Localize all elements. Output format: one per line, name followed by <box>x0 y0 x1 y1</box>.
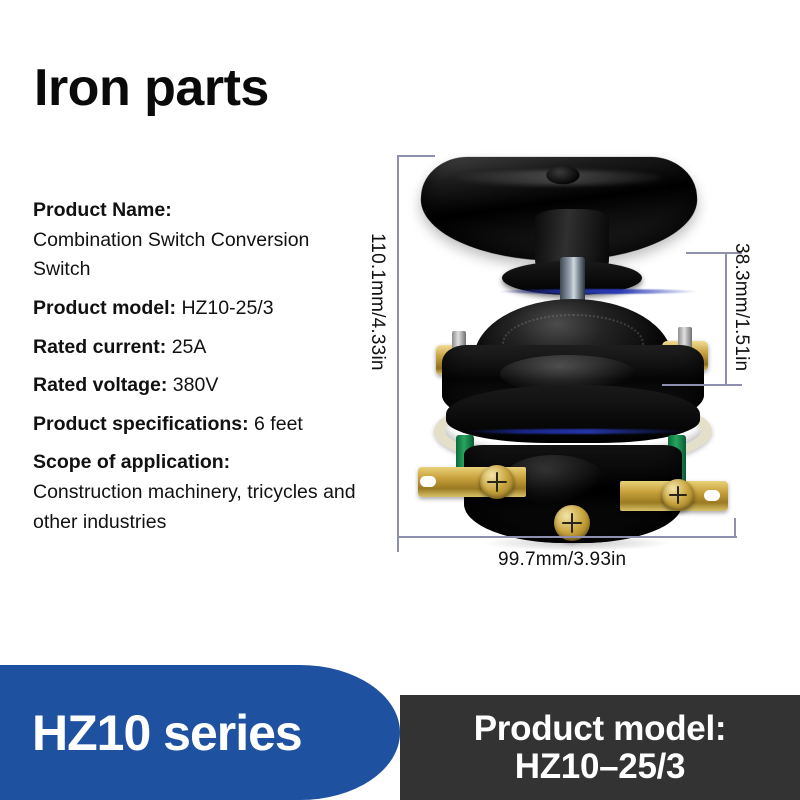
spec-value-scope-of-application: Construction machinery, tricycles and ot… <box>33 478 363 537</box>
model-banner-caption: Product model: <box>474 710 726 748</box>
page-title: Iron parts <box>34 62 269 114</box>
rotary-switch-illustration <box>412 149 732 549</box>
series-banner-panel: HZ10 series <box>0 665 400 800</box>
series-banner-label: HZ10 series <box>32 704 302 762</box>
gasket-inner-cover <box>446 385 700 443</box>
spec-label-rated-current: Rated current: <box>33 336 166 358</box>
spec-row-product-specifications: Product specifications: 6 feet <box>33 410 363 440</box>
screw-bracket-right <box>662 479 694 511</box>
dim-label-height: 110.1mm/4.33in <box>366 233 388 371</box>
dim-line-body-height <box>725 252 727 385</box>
spec-label-scope-of-application: Scope of application: <box>33 451 230 473</box>
dim-line-height <box>397 155 399 552</box>
spec-value-product-name: Combination Switch Conversion Switch <box>33 226 363 285</box>
dim-line-width <box>397 536 737 538</box>
product-spec-list: Product Name: Combination Switch Convers… <box>33 196 363 546</box>
dim-label-width: 99.7mm/3.93in <box>498 549 626 571</box>
product-image-area: 110.1mm/4.33in 38.3mm/1.51in 99.7mm/3.93… <box>400 145 750 565</box>
knob-top-dot <box>546 166 579 184</box>
model-banner-panel: Product model: HZ10–25/3 <box>400 695 800 800</box>
spec-value-rated-current: 25A <box>172 336 207 358</box>
spec-value-product-model: HZ10-25/3 <box>181 297 273 319</box>
spec-label-product-specifications: Product specifications: <box>33 413 249 435</box>
dim-tick-width-right <box>734 518 736 538</box>
spec-row-product-name: Product Name: Combination Switch Convers… <box>33 196 363 285</box>
knob-blue-highlight <box>498 289 698 294</box>
screw-bracket-left <box>480 465 514 499</box>
dim-label-body-height: 38.3mm/1.51in <box>730 243 752 371</box>
spec-row-scope-of-application: Scope of application: Construction machi… <box>33 448 363 537</box>
spec-label-product-name: Product Name: <box>33 199 172 221</box>
spec-value-rated-voltage: 380V <box>173 374 219 396</box>
spec-row-rated-voltage: Rated voltage: 380V <box>33 371 363 401</box>
spec-row-rated-current: Rated current: 25A <box>33 333 363 363</box>
spec-label-rated-voltage: Rated voltage: <box>33 374 167 396</box>
bracket-slot-left <box>420 476 436 487</box>
dim-tick-body-bottom <box>662 384 742 386</box>
spec-label-product-model: Product model: <box>33 297 176 319</box>
model-banner-value: HZ10–25/3 <box>515 748 685 786</box>
dim-tick-height-top <box>397 155 435 157</box>
body-blue-highlight <box>464 429 690 434</box>
bracket-slot-right <box>704 490 720 501</box>
spec-value-product-specifications: 6 feet <box>254 413 303 435</box>
spec-row-product-model: Product model: HZ10-25/3 <box>33 294 363 324</box>
